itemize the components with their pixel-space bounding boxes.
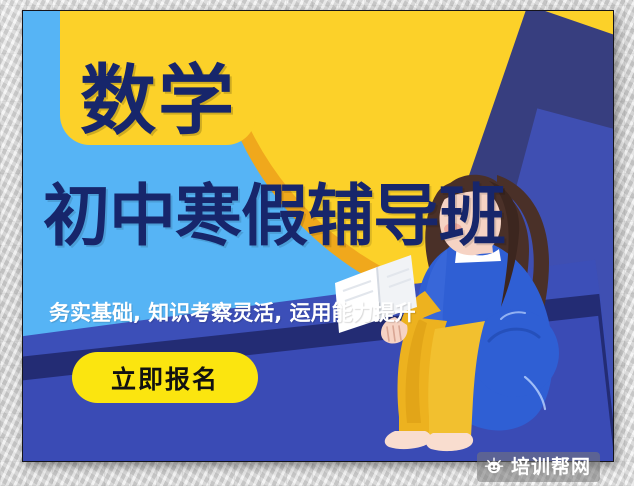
poster-subtitle: 务实基础, 知识考察灵活, 运用能力提升 (49, 297, 416, 327)
page-title: 初中寒假辅导班 (43, 183, 603, 250)
sun-face-icon (484, 457, 504, 477)
watermark-label: 培训帮网 (511, 458, 591, 477)
enroll-now-button[interactable]: 立即报名 (72, 352, 258, 403)
subject-label: 数学 (80, 63, 236, 139)
enroll-now-label: 立即报名 (111, 360, 219, 396)
subject-chip: 数学 (60, 10, 256, 145)
promo-poster: 数学 初中寒假辅导班 务实基础, 知识考察灵活, 运用能力提升 立即报名 (22, 10, 614, 462)
site-watermark: 培训帮网 (477, 452, 600, 482)
